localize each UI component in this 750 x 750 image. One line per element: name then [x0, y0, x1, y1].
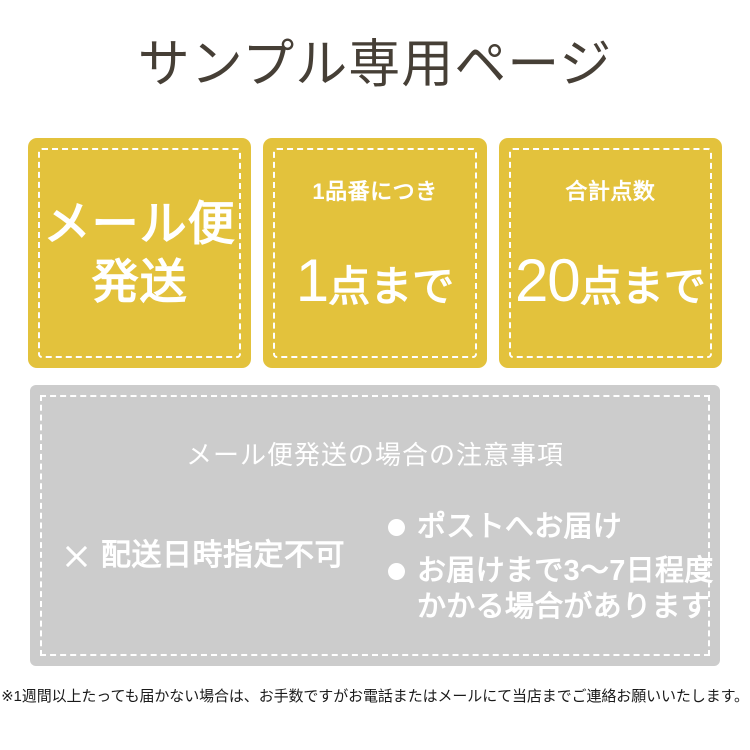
card-total-limit-number: 20	[515, 247, 580, 314]
x-mark-icon	[65, 545, 87, 567]
page-title: サンプル専用ページ	[0, 34, 750, 96]
feature-cards: メール便 発送 1品番につき 1点まで 合計点数 20点まで	[28, 138, 722, 368]
card-total-limit: 合計点数 20点まで	[499, 138, 722, 368]
notice-panel: メール便発送の場合の注意事項 配送日時指定不可 ポストへお届け	[30, 385, 720, 666]
notice-heading: メール便発送の場合の注意事項	[30, 438, 720, 472]
card-per-item-limit: 1品番につき 1点まで	[263, 138, 486, 368]
list-item: ポストへお届け	[388, 509, 720, 545]
bullet-text: ポストへお届け	[417, 509, 622, 545]
bullet-dot-icon	[388, 563, 405, 580]
card-mail-shipping-content: メール便 発送	[28, 196, 251, 310]
no-date-specification-label: 配送日時指定不可	[101, 537, 345, 575]
card-mail-shipping: メール便 発送	[28, 138, 251, 368]
card-per-item-limit-caption: 1品番につき	[263, 178, 486, 206]
notice-left-column: 配送日時指定不可	[30, 509, 380, 575]
list-item: お届けまで3〜7日程度 かかる場合があります	[388, 553, 720, 625]
bullet-line-1: ポストへお届け	[417, 511, 622, 543]
card-total-limit-caption: 合計点数	[499, 178, 722, 206]
no-date-specification: 配送日時指定不可	[65, 537, 345, 575]
bullet-text: お届けまで3〜7日程度 かかる場合があります	[417, 553, 714, 625]
card-per-item-limit-content: 1品番につき 1点まで	[263, 178, 486, 328]
notice-body: 配送日時指定不可 ポストへお届け お届けまで3〜7日程度 かかる場合があります	[30, 509, 720, 639]
card-per-item-limit-number: 1	[296, 247, 328, 314]
card-mail-shipping-line1: メール便	[28, 196, 251, 252]
bullet-dot-icon	[388, 519, 405, 536]
card-per-item-limit-amount: 1点まで	[263, 250, 486, 328]
bullet-line-1: お届けまで3〜7日程度	[417, 555, 714, 587]
sample-page-banner: サンプル専用ページ メール便 発送 1品番につき 1点まで 合計点数	[0, 0, 750, 750]
card-total-limit-amount: 20点まで	[499, 250, 722, 328]
card-per-item-limit-unit: 点まで	[328, 263, 454, 310]
card-mail-shipping-line2: 発送	[28, 254, 251, 310]
card-total-limit-content: 合計点数 20点まで	[499, 178, 722, 328]
footer-note: ※1週間以上たっても届かない場合は、お手数ですがお電話またはメールにて当店までご…	[0, 686, 750, 708]
card-total-limit-unit: 点まで	[580, 263, 706, 310]
bullet-line-2: かかる場合があります	[417, 589, 714, 625]
notice-right-column: ポストへお届け お届けまで3〜7日程度 かかる場合があります	[380, 509, 720, 633]
